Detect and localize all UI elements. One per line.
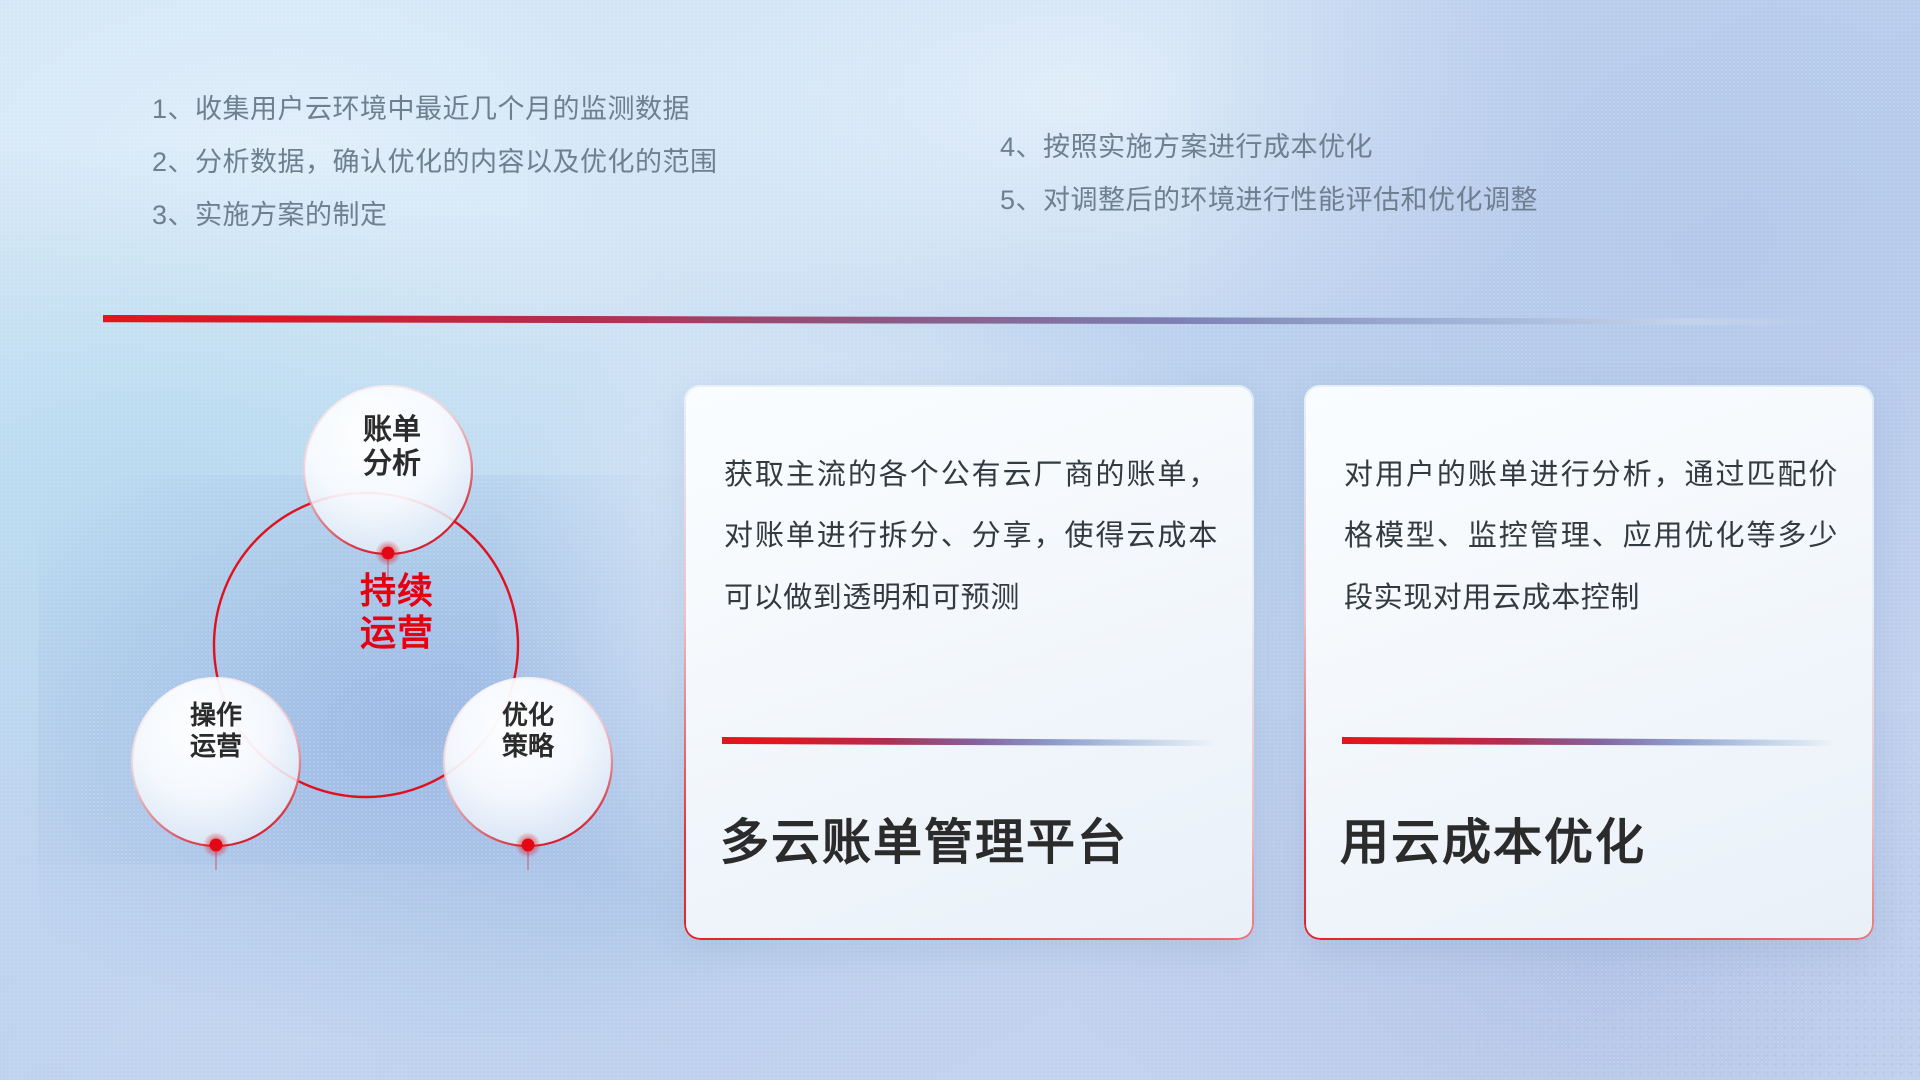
step-item-3: 3、实施方案的制定 [152, 202, 718, 229]
section-divider [103, 315, 1827, 325]
step-item-4: 4、按照实施方案进行成本优化 [1000, 134, 1538, 161]
steps-left-column: 1、收集用户云环境中最近几个月的监测数据 2、分析数据，确认优化的内容以及优化的… [152, 96, 718, 255]
venn-diagram: 账单 分析 操作 运营 优化 策略 持续 运营 [88, 350, 648, 950]
venn-node-top [382, 547, 395, 560]
venn-label-ops-line2: 运营 [136, 731, 296, 762]
card-body-text: 获取主流的各个公有云厂商的账单，对账单进行拆分、分享，使得云成本可以做到透明和可… [724, 445, 1218, 629]
venn-label-strategy: 优化 策略 [448, 700, 608, 761]
venn-label-ops-line1: 操作 [136, 700, 296, 731]
step-item-5: 5、对调整后的环境进行性能评估和优化调整 [1000, 187, 1538, 214]
venn-center-label: 持续 运营 [312, 570, 482, 654]
step-item-2: 2、分析数据，确认优化的内容以及优化的范围 [152, 149, 718, 176]
venn-label-strategy-line1: 优化 [448, 700, 608, 731]
feature-card-multi-cloud-billing[interactable]: 获取主流的各个公有云厂商的账单，对账单进行拆分、分享，使得云成本可以做到透明和可… [684, 385, 1254, 940]
card-accent-rule [1342, 737, 1836, 746]
steps-right-column: 4、按照实施方案进行成本优化 5、对调整后的环境进行性能评估和优化调整 [1000, 134, 1538, 240]
venn-node-left [210, 839, 223, 852]
venn-node-right [522, 839, 535, 852]
divider-gradient-bar [103, 315, 1827, 325]
card-title: 多云账单管理平台 [720, 803, 1224, 874]
card-title: 用云成本优化 [1340, 803, 1844, 874]
venn-label-bill-analysis: 账单 分析 [302, 413, 482, 481]
venn-label-operations: 操作 运营 [136, 700, 296, 761]
card-body-text: 对用户的账单进行分析，通过匹配价格模型、监控管理、应用优化等多少段实现对用云成本… [1344, 445, 1838, 629]
card-accent-rule-fill [722, 737, 1216, 746]
process-steps: 1、收集用户云环境中最近几个月的监测数据 2、分析数据，确认优化的内容以及优化的… [0, 96, 1920, 286]
venn-center-label-line1: 持续 [312, 570, 482, 612]
venn-label-strategy-line2: 策略 [448, 731, 608, 762]
feature-card-cloud-cost-optimization[interactable]: 对用户的账单进行分析，通过匹配价格模型、监控管理、应用优化等多少段实现对用云成本… [1304, 385, 1874, 940]
step-item-1: 1、收集用户云环境中最近几个月的监测数据 [152, 96, 718, 123]
venn-label-bill-line2: 分析 [302, 447, 482, 481]
card-accent-rule [722, 737, 1216, 746]
card-accent-rule-fill [1342, 737, 1836, 746]
venn-label-bill-line1: 账单 [302, 413, 482, 447]
venn-center-label-line2: 运营 [312, 612, 482, 654]
